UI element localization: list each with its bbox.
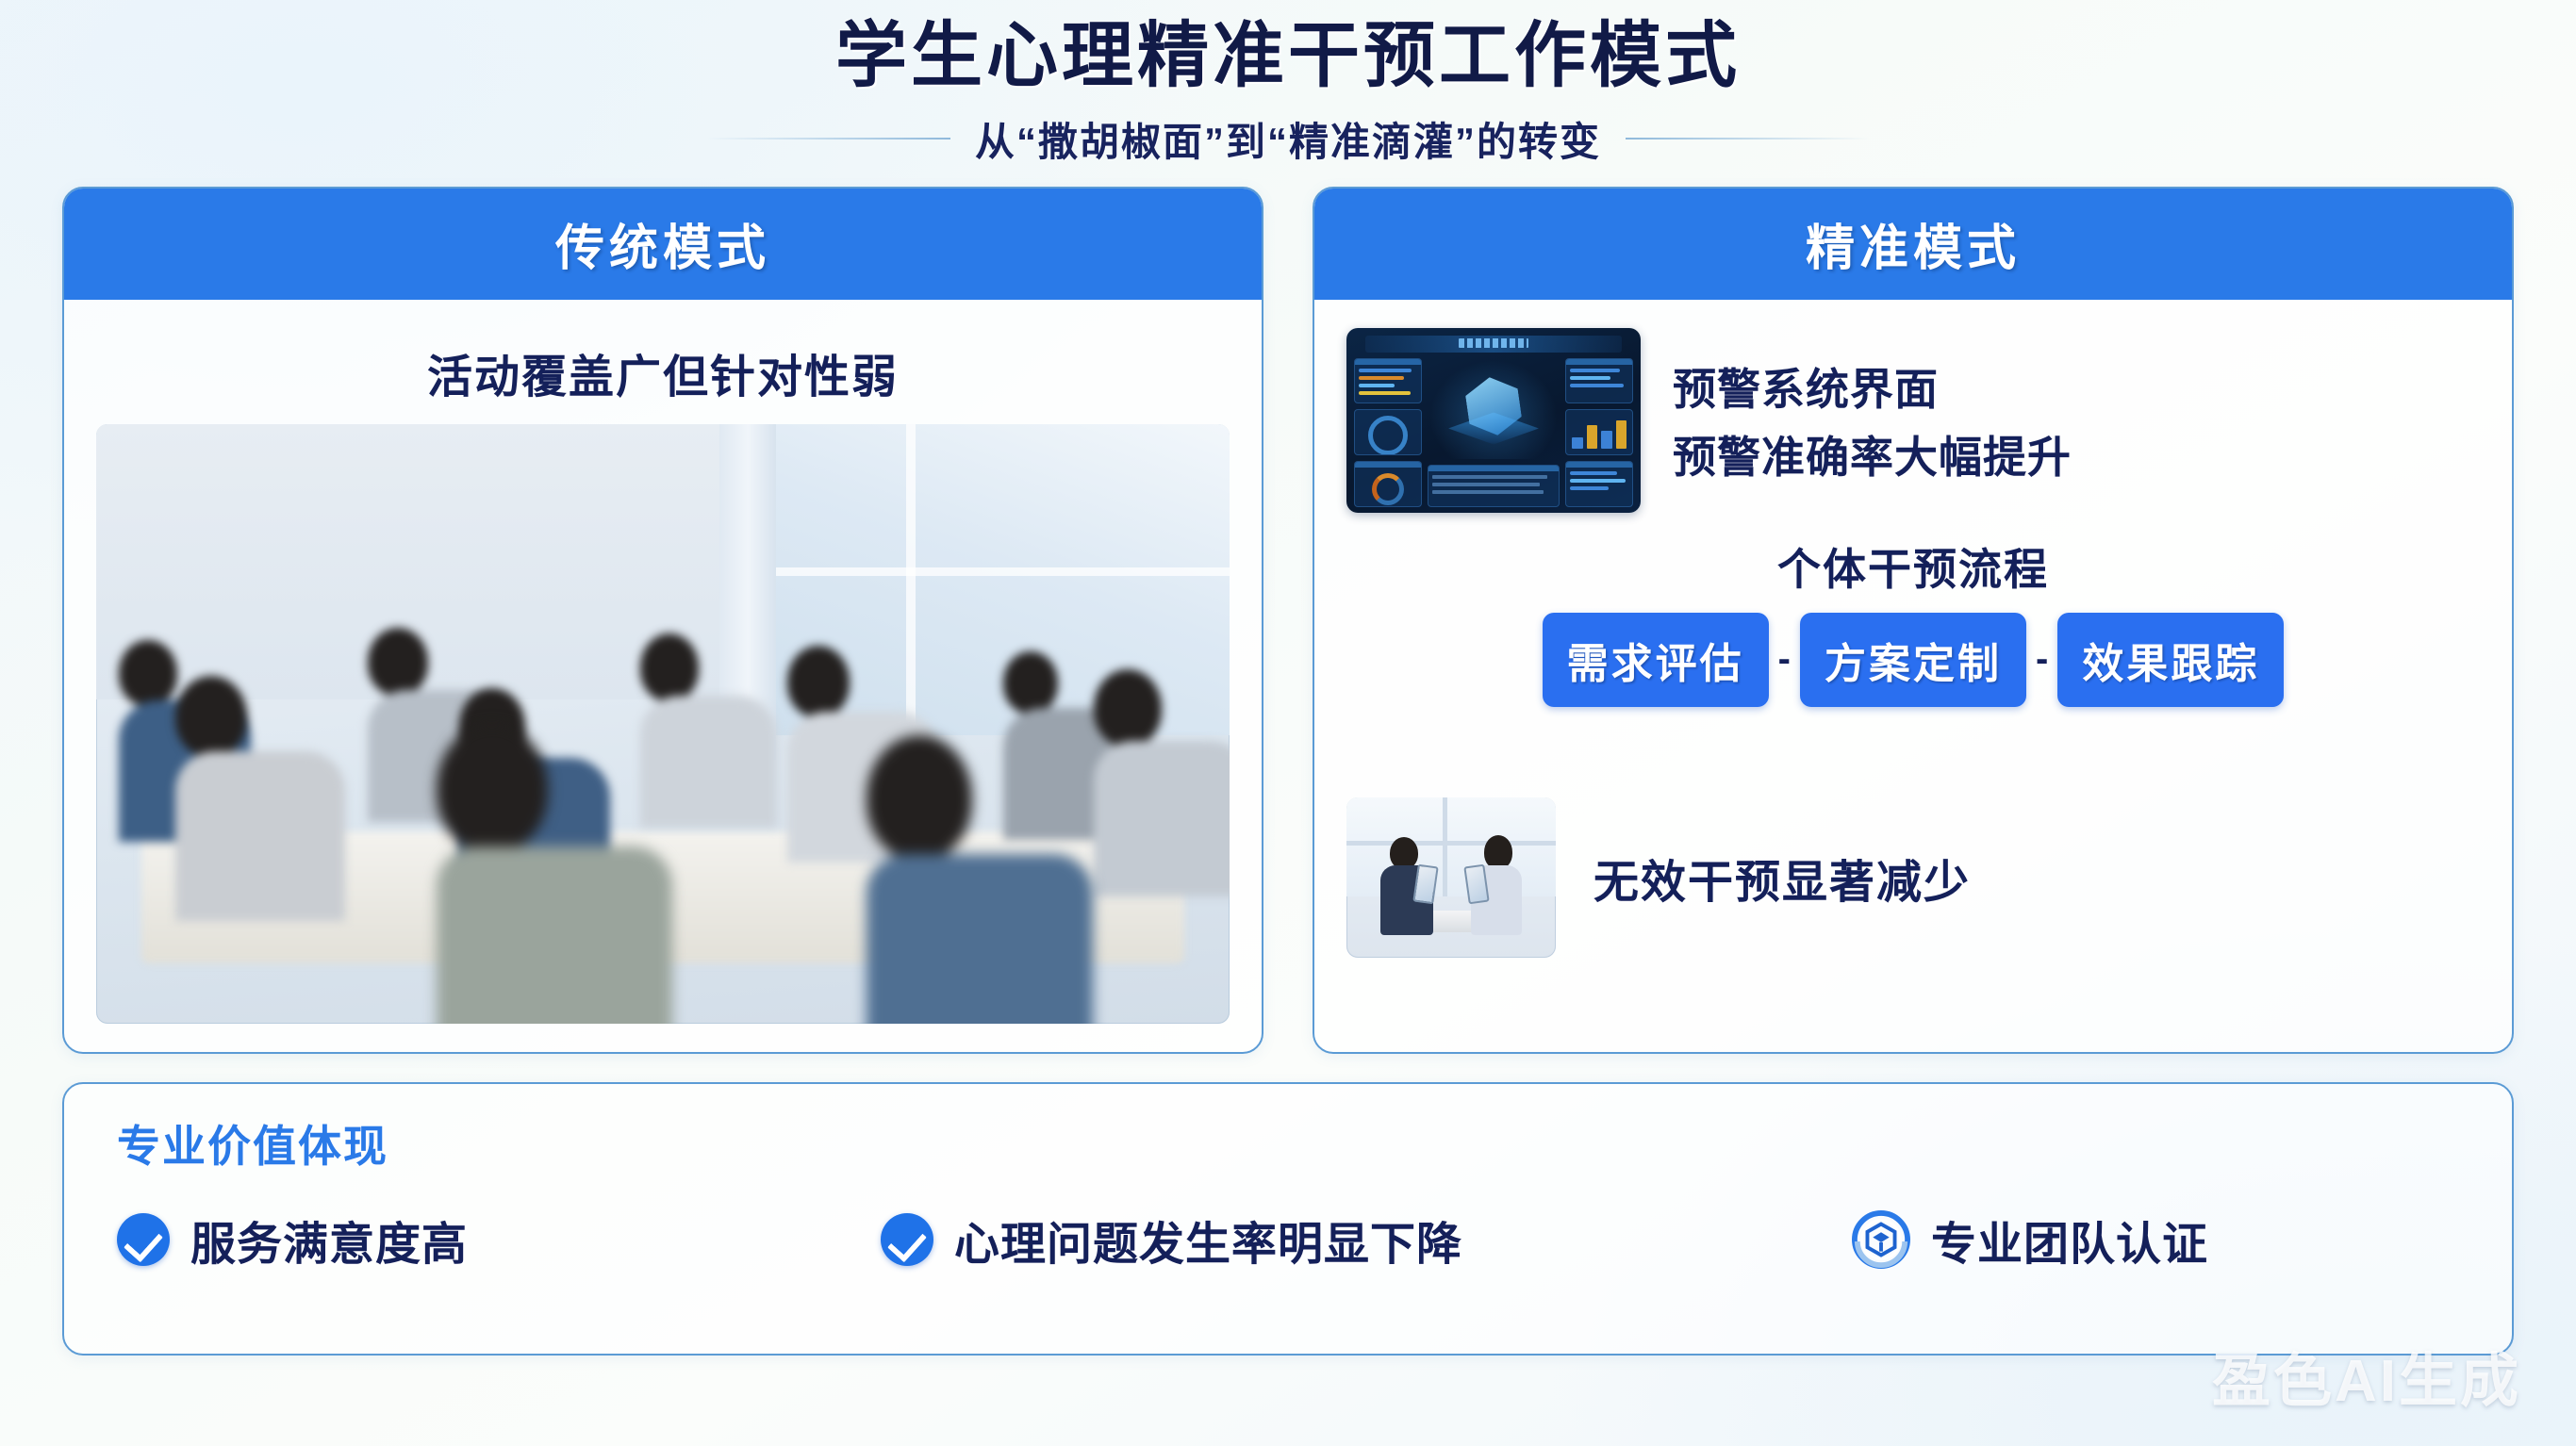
- classroom-group-photo: [96, 424, 1230, 1024]
- check-circle-icon: [117, 1213, 170, 1266]
- photo-person-foreground: [437, 724, 672, 1024]
- dashboard-grid: [1354, 358, 1633, 507]
- value-item-3: 专业团队认证: [1852, 1207, 2208, 1273]
- warning-line-2: 预警准确率大幅提升: [1673, 423, 2072, 485]
- dashboard-right-column: [1565, 358, 1633, 507]
- office-tablet-left: [1413, 864, 1439, 905]
- photo-person: [1094, 669, 1230, 896]
- value-items: 服务满意度高 心理问题发生率明显下降 专业团队认证: [117, 1207, 2459, 1273]
- flow-title: 个体干预流程: [1346, 535, 2480, 598]
- subtitle-rule-left: [707, 138, 950, 140]
- page-title: 学生心理精准干预工作模式: [0, 13, 2576, 101]
- dashboard-left-column: [1354, 358, 1422, 507]
- intervention-flow: 需求评估 - 方案定制 - 效果跟踪: [1346, 613, 2480, 707]
- warning-system-row: 预警系统界面 预警准确率大幅提升: [1346, 328, 2480, 513]
- flow-step-3[interactable]: 效果跟踪: [2057, 613, 2284, 707]
- photo-person-foreground: [867, 735, 1093, 1023]
- warning-system-dashboard: [1346, 328, 1641, 513]
- card-precise-mode: 精准模式: [1313, 187, 2514, 1054]
- value-item-1: 服务满意度高: [117, 1207, 881, 1273]
- dashboard-title-glyphs: [1459, 338, 1528, 348]
- check-circle-icon: [881, 1213, 933, 1266]
- value-item-2-label: 心理问题发生率明显下降: [954, 1207, 1462, 1273]
- dashboard-center-column: [1428, 358, 1560, 507]
- dashboard-panel-chart: [1565, 409, 1633, 455]
- dashboard-panel-bars: [1354, 358, 1422, 404]
- counseling-row: 无效干预显著减少: [1346, 731, 2480, 1024]
- value-item-3-label: 专业团队认证: [1931, 1207, 2208, 1273]
- dashboard-panel-list: [1565, 358, 1633, 404]
- counseling-caption: 无效干预显著减少: [1593, 845, 1971, 911]
- dashboard-data-table: [1428, 465, 1560, 507]
- dashboard-hologram: [1428, 358, 1560, 459]
- photo-person: [175, 676, 345, 921]
- value-item-1-label: 服务满意度高: [190, 1207, 468, 1273]
- subtitle-rule-right: [1626, 138, 1869, 140]
- card-traditional-title: 传统模式: [555, 208, 770, 279]
- dashboard-panel-gauge: [1354, 409, 1422, 455]
- office-window: [1346, 797, 1556, 896]
- flow-step-1[interactable]: 需求评估: [1543, 613, 1769, 707]
- page-header: 学生心理精准干预工作模式 从“撒胡椒面”到“精准滴灌”的转变: [0, 0, 2576, 168]
- comparison-cards: 传统模式 活动覆盖广但针对性弱: [0, 187, 2576, 1054]
- certification-seal-icon: [1852, 1210, 1910, 1269]
- card-precise-header: 精准模式: [1314, 189, 2512, 300]
- card-traditional-body: 活动覆盖广但针对性弱: [64, 300, 1262, 1052]
- value-item-2: 心理问题发生率明显下降: [881, 1207, 1852, 1273]
- value-panel-title: 专业价值体现: [117, 1112, 2459, 1175]
- flow-step-2[interactable]: 方案定制: [1800, 613, 2026, 707]
- card-traditional-header: 传统模式: [64, 189, 1262, 300]
- flow-separator-2: -: [2032, 638, 2052, 681]
- value-panel: 专业价值体现 服务满意度高 心理问题发生率明显下降 专业团队认证: [62, 1082, 2514, 1356]
- dashboard-panel-radial: [1354, 461, 1422, 507]
- page-subtitle: 从“撒胡椒面”到“精准滴灌”的转变: [975, 110, 1601, 168]
- card-precise-title: 精准模式: [1806, 208, 2021, 279]
- flow-separator-1: -: [1775, 638, 1794, 681]
- counseling-meeting-photo: [1346, 797, 1556, 958]
- subtitle-row: 从“撒胡椒面”到“精准滴灌”的转变: [0, 110, 2576, 168]
- dashboard-panel-progress: [1565, 461, 1633, 507]
- warning-system-texts: 预警系统界面 预警准确率大幅提升: [1673, 355, 2072, 485]
- warning-line-1: 预警系统界面: [1673, 355, 2072, 418]
- dashboard-topbar: [1365, 336, 1622, 353]
- card-precise-body: 预警系统界面 预警准确率大幅提升 个体干预流程 需求评估 - 方案定制 - 效果…: [1314, 300, 2512, 1052]
- traditional-caption: 活动覆盖广但针对性弱: [96, 339, 1230, 405]
- card-traditional-mode: 传统模式 活动覆盖广但针对性弱: [62, 187, 1263, 1054]
